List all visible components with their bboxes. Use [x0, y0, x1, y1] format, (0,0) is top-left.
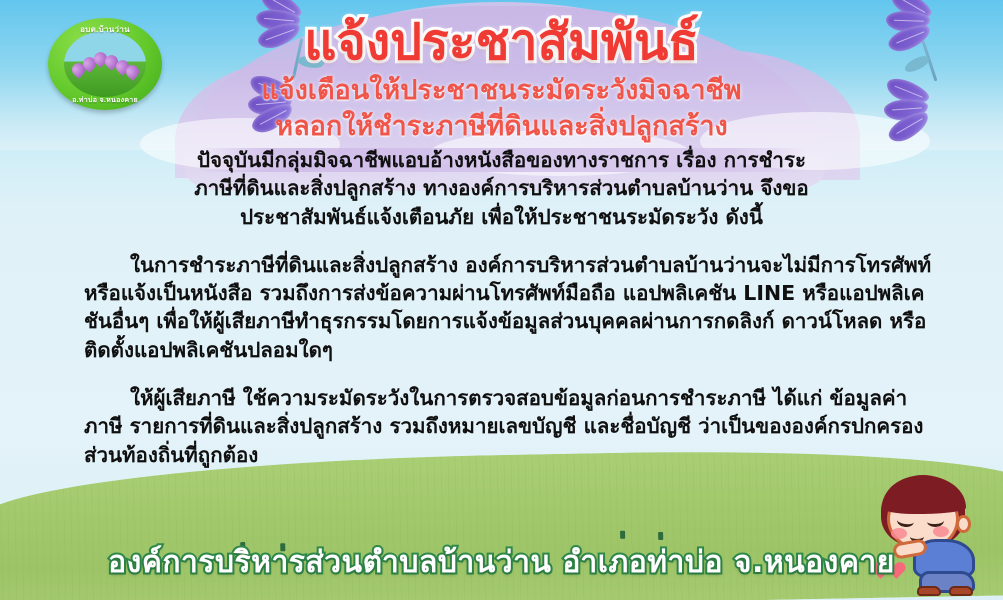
- paragraph-warning: ในการชำระภาษีที่ดินและสิ่งปลูกสร้าง องค์…: [26, 251, 977, 364]
- mascot-cheek-right: [933, 526, 949, 537]
- paragraph-intro: ปัจจุบันมีกลุ่มมิจฉาชีพแอบอ้างหนังสือของ…: [26, 146, 977, 231]
- footer-block: องค์การบริหารส่วนตำบลบ้านว่าน อำเภอท่าบ่…: [0, 539, 1003, 586]
- mascot-ear: [956, 515, 971, 533]
- paragraph-advice: ให้ผู้เสียภาษี ใช้ความระมัดระวังในการตรว…: [26, 384, 977, 469]
- mascot-shoe-right: [949, 586, 973, 596]
- body-content: ปัจจุบันมีกลุ่มมิจฉาชีพแอบอ้างหนังสือของ…: [0, 146, 1003, 469]
- intro-line-3: ประชาสัมพันธ์แจ้งเตือนภัย เพื่อให้ประชาช…: [240, 205, 763, 229]
- poster-title: แจ้งประชาสัมพันธ์: [304, 14, 699, 72]
- mascot-hair-front: [882, 476, 966, 514]
- mascot-shoe-left: [917, 586, 941, 596]
- announcement-poster: อบต.บ้านว่าน อ.ท่าบ่อ จ.หนองคาย แจ้งประช…: [0, 0, 1003, 600]
- intro-line-2: ภาษีที่ดินและสิ่งปลูกสร้าง ทางองค์การบริ…: [194, 176, 808, 200]
- intro-line-1: ปัจจุบันมีกลุ่มมิจฉาชีพแอบอ้างหนังสือของ…: [197, 148, 806, 172]
- poster-subtitle-line2: หลอกให้ชำระภาษีที่ดินและสิ่งปลูกสร้าง: [0, 110, 1003, 145]
- mascot-cheek-left: [891, 528, 907, 539]
- title-block: แจ้งประชาสัมพันธ์ แจ้งเตือนให้ประชาชนระม…: [0, 14, 1003, 145]
- grass-speck: [620, 531, 625, 539]
- poster-subtitle-line1: แจ้งเตือนให้ประชาชนระมัดระวังมิจฉาชีพ: [0, 74, 1003, 109]
- organization-footer-text: องค์การบริหารส่วนตำบลบ้านว่าน อำเภอท่าบ่…: [108, 539, 895, 586]
